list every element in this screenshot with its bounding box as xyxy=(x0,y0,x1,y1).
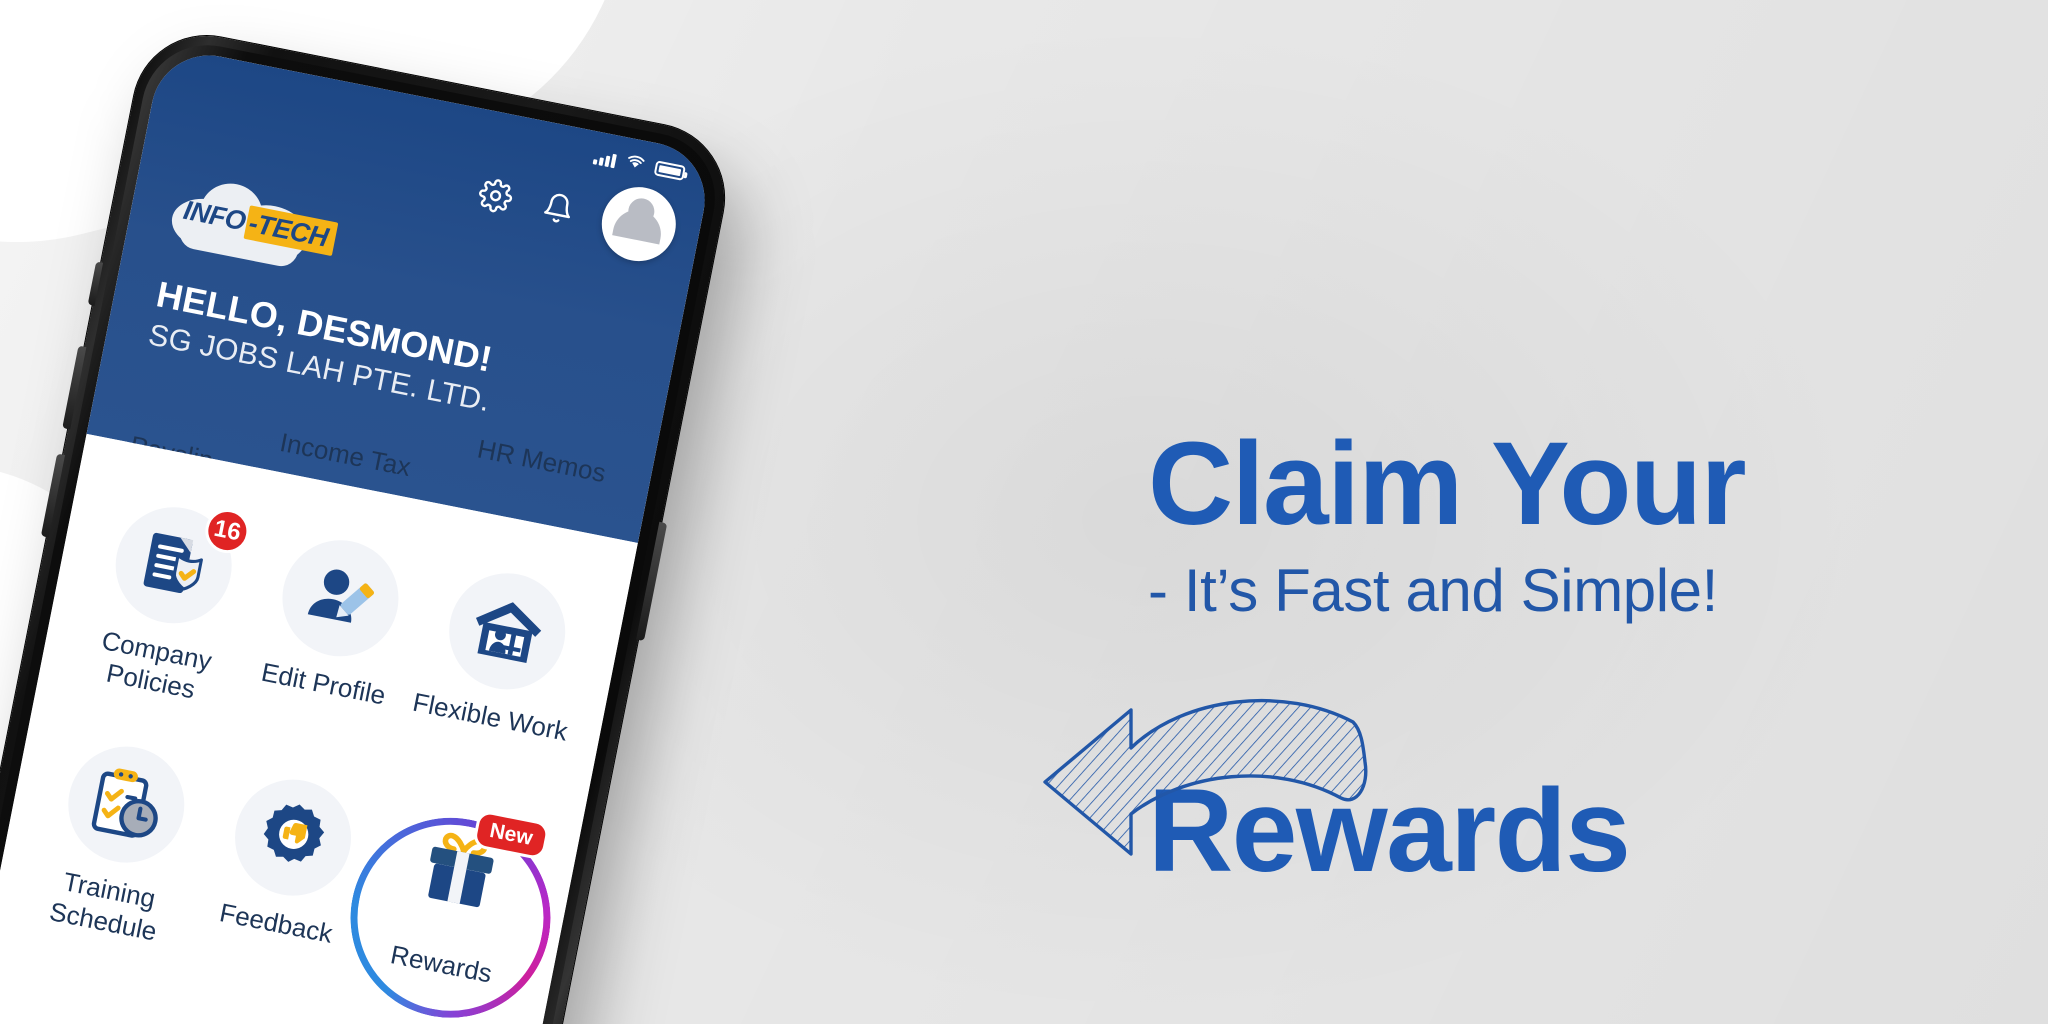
grid-item-label: Flexible Work xyxy=(410,687,570,748)
grid-item-rewards[interactable]: New Rewards xyxy=(350,798,554,1020)
tab-hr-memos[interactable]: HR Memos xyxy=(475,433,609,489)
headline-line-1: Claim Your xyxy=(1148,427,1745,543)
grid-item-flexible-work[interactable]: Flexible Work xyxy=(398,558,602,780)
grid-item-label: Training Schedule xyxy=(22,860,191,952)
avatar[interactable] xyxy=(595,181,682,268)
status-bar xyxy=(592,145,686,183)
grid-item-label: Company Policies xyxy=(69,620,238,712)
grid-item-label: Feedback xyxy=(217,898,335,951)
bell-icon[interactable] xyxy=(536,186,581,231)
shortcut-grid: 16 Company Policies xyxy=(17,492,602,1019)
tab-income-tax[interactable]: Income Tax xyxy=(277,427,413,483)
app-logo: INFO-TECH xyxy=(167,171,329,273)
user-pencil-icon xyxy=(272,530,408,666)
silent-switch[interactable] xyxy=(88,261,103,306)
home-office-icon xyxy=(439,563,575,699)
promo-banner: INFO-TECH HELLO, DESMOND! SG JOBS LAH PT… xyxy=(0,0,2048,1024)
gift-box-icon: New xyxy=(392,803,528,939)
gear-icon[interactable] xyxy=(473,173,518,218)
grid-item-label: Rewards xyxy=(388,940,495,991)
battery-full-icon xyxy=(654,160,686,181)
document-shield-icon: 16 xyxy=(106,497,242,633)
page-subtitle: - It’s Fast and Simple! xyxy=(1148,556,1718,625)
curved-arrow-icon xyxy=(1035,690,1385,890)
clipboard-clock-icon xyxy=(58,737,194,873)
wifi-icon xyxy=(624,152,648,176)
cellular-signal-icon xyxy=(593,148,618,168)
gear-thumb-icon xyxy=(225,770,361,906)
grid-item-label: Edit Profile xyxy=(259,657,388,712)
